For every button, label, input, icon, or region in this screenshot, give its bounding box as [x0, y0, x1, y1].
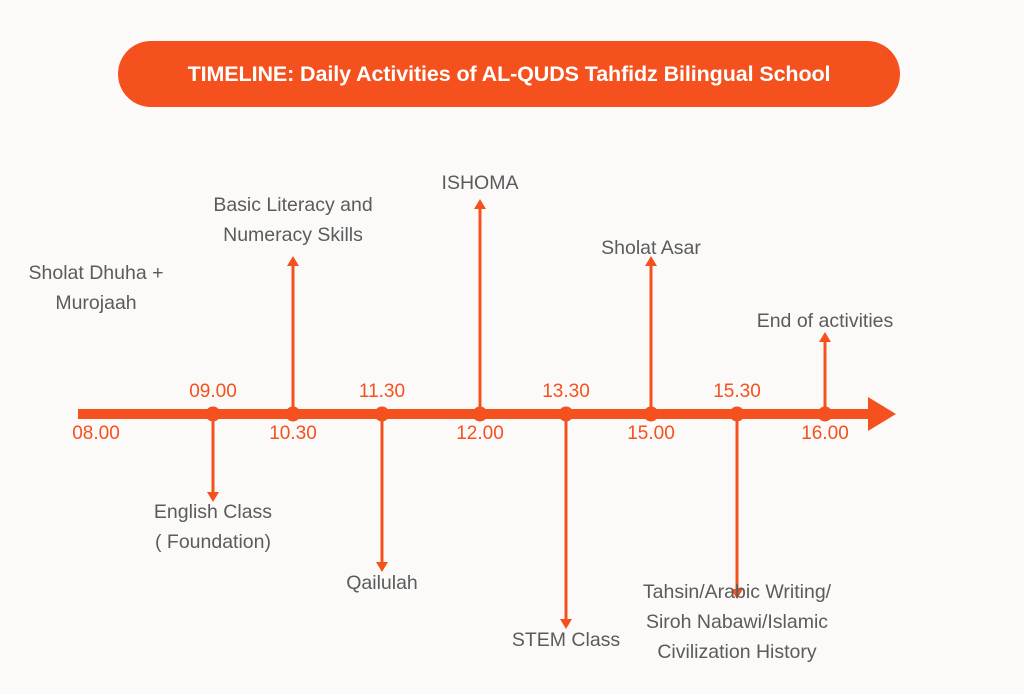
activity-label: ISHOMA	[370, 168, 590, 198]
arrow-up-icon	[287, 256, 299, 266]
activity-label: Sholat Dhuha + Murojaah	[0, 258, 211, 318]
page-title: TIMELINE: Daily Activities of AL-QUDS Ta…	[188, 62, 831, 87]
connector-line	[479, 209, 482, 414]
activity-label: Qailulah	[282, 568, 482, 598]
arrow-up-icon	[474, 199, 486, 209]
time-tick-label: 10.30	[269, 423, 317, 445]
time-tick-label: 11.30	[359, 381, 405, 403]
connector-line	[381, 414, 384, 562]
activity-label: Basic Literacy and Numeracy Skills	[168, 190, 418, 250]
title-banner: TIMELINE: Daily Activities of AL-QUDS Ta…	[118, 41, 900, 107]
activity-label: End of activities	[710, 306, 940, 336]
time-tick-label: 16.00	[801, 423, 849, 445]
connector-line	[212, 414, 215, 492]
connector-line	[292, 266, 295, 414]
activity-label: Tahsin/Arabic Writing/ Siroh Nabawi/Isla…	[607, 577, 867, 667]
connector-line	[565, 414, 568, 619]
connector-line	[736, 414, 739, 589]
timeline-axis-arrow-icon	[868, 397, 896, 431]
activity-label: English Class ( Foundation)	[98, 497, 328, 557]
time-tick-label: 15.00	[627, 423, 675, 445]
time-tick-label: 12.00	[456, 423, 504, 445]
time-tick-label: 15.30	[713, 381, 761, 403]
activity-label: Sholat Asar	[536, 233, 766, 263]
connector-line	[824, 342, 827, 414]
time-tick-label: 08.00	[72, 423, 120, 445]
time-tick-label: 09.00	[189, 381, 237, 403]
connector-line	[650, 266, 653, 414]
time-tick-label: 13.30	[542, 381, 590, 403]
timeline-infographic: TIMELINE: Daily Activities of AL-QUDS Ta…	[0, 0, 1024, 694]
